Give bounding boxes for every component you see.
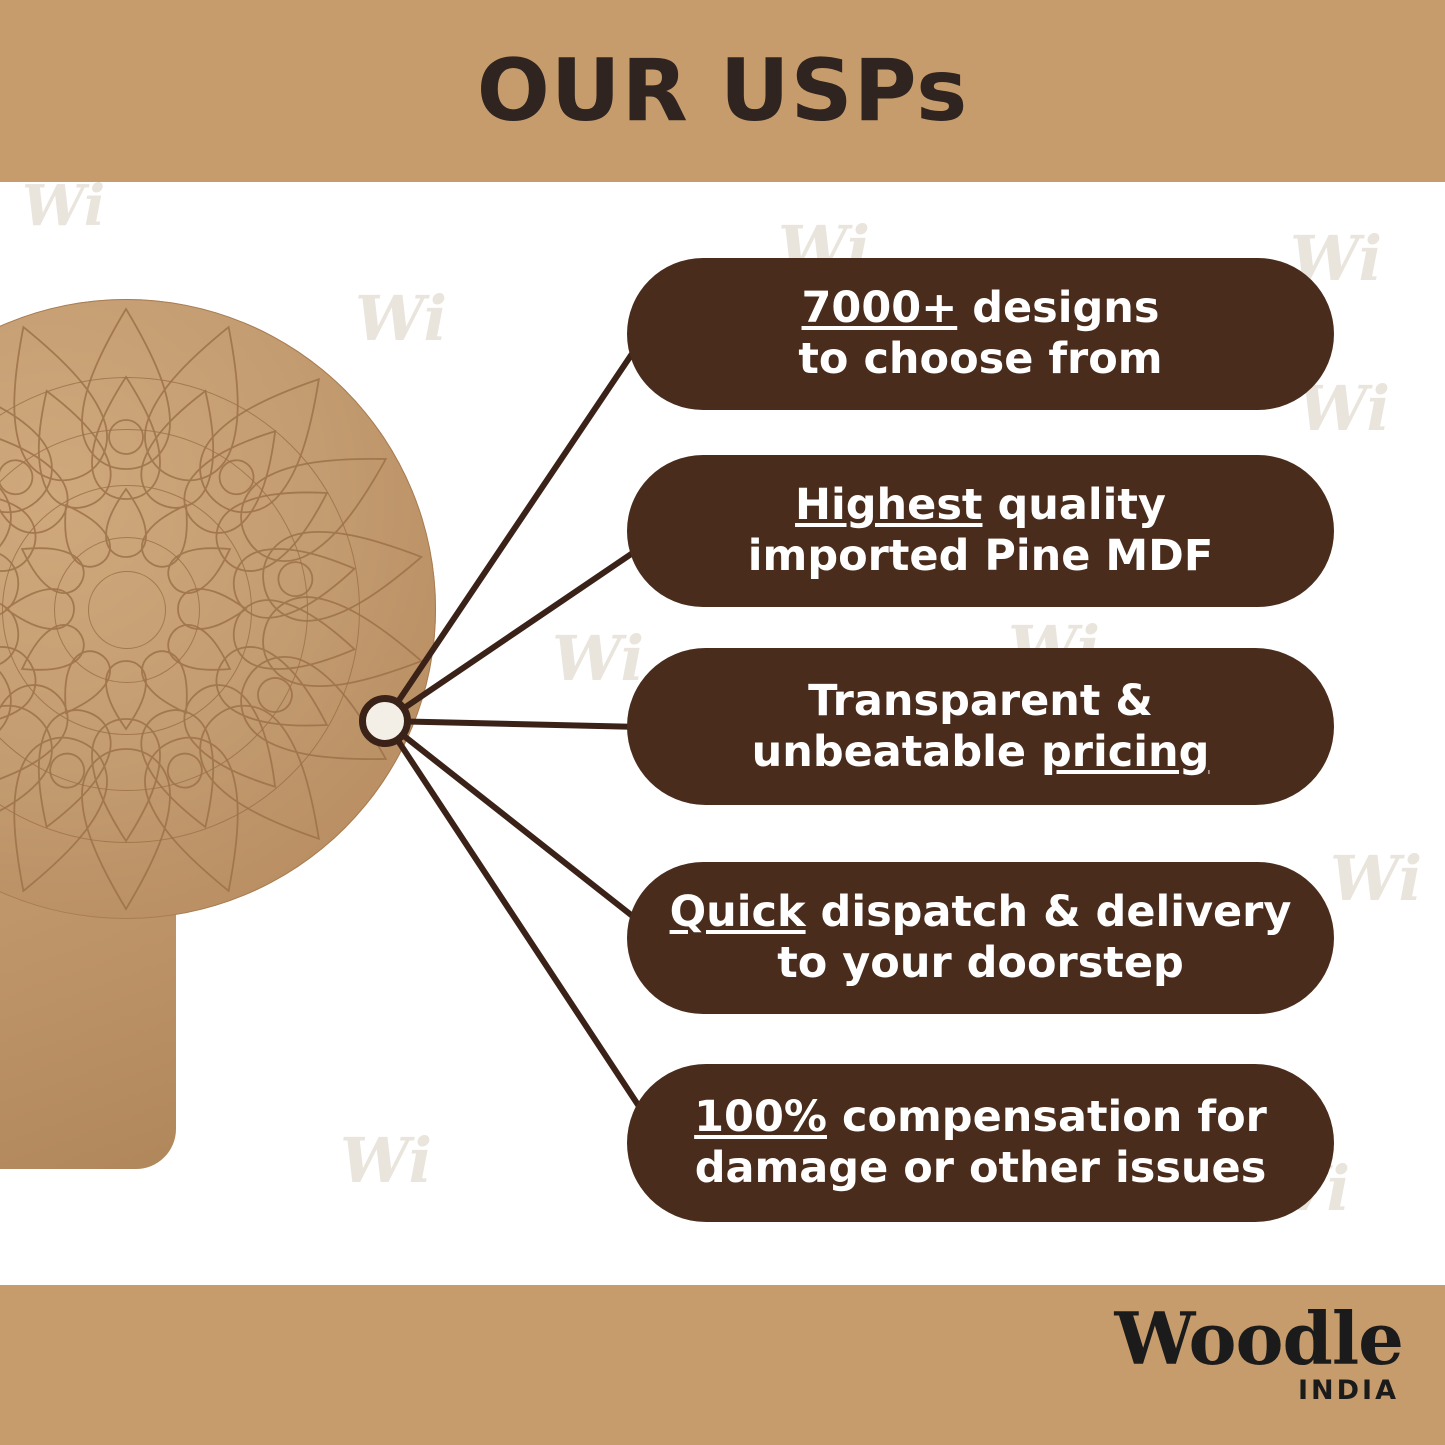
usp-pill-dispatch-line1: Quick dispatch & delivery (670, 887, 1292, 938)
page-title: OUR USPs (477, 41, 969, 141)
usp-pill-compensation-line1: 100% compensation for (694, 1092, 1267, 1143)
brand-logo-subtitle: INDIA (1114, 1377, 1399, 1404)
usp-pill-quality-highlight: Highest (795, 480, 982, 530)
usp-pill-designs-line1: 7000+ designs (802, 283, 1160, 334)
header-banner: OUR USPs (0, 0, 1445, 182)
brand-logo: Woodle INDIA (1114, 1303, 1403, 1404)
mandala-ring-center (88, 571, 166, 649)
watermark-6: Wi (552, 628, 644, 690)
usp-pill-pricing-highlight: pricing (1041, 727, 1209, 777)
usp-pill-dispatch-line2: to your doorstep (777, 938, 1184, 989)
usp-pill-compensation-line2: damage or other issues (695, 1143, 1267, 1194)
usp-pill-designs[interactable]: 7000+ designs to choose from (627, 258, 1334, 410)
footer-banner: Woodle INDIA (0, 1285, 1445, 1445)
usp-pill-dispatch[interactable]: Quick dispatch & delivery to your doorst… (627, 862, 1334, 1014)
usp-pill-quality-line1: Highest quality (795, 480, 1166, 531)
usp-pill-dispatch-highlight: Quick (670, 887, 806, 937)
usp-pill-designs-highlight: 7000+ (802, 283, 958, 333)
usp-pill-quality[interactable]: Highest quality imported Pine MDF (627, 455, 1334, 607)
usp-infographic-page: OUR USPs Wi Wi Wi Wi Wi Wi Wi Wi Wi Wi (0, 0, 1445, 1445)
usp-pill-quality-line2: imported Pine MDF (748, 531, 1213, 582)
usp-pill-compensation[interactable]: 100% compensation for damage or other is… (627, 1064, 1334, 1222)
watermark-1: Wi (22, 178, 105, 234)
usp-pill-compensation-highlight: 100% (694, 1092, 827, 1142)
usp-pill-pricing-line1: Transparent & (808, 676, 1153, 727)
brand-logo-word: Woodle (1114, 1303, 1403, 1375)
watermark-8: Wi (1330, 848, 1422, 910)
usp-pill-pricing[interactable]: Transparent & unbeatable pricing (627, 648, 1334, 805)
usp-pill-pricing-line2: unbeatable pricing (752, 727, 1210, 778)
product-hub-node (359, 695, 411, 747)
usp-pill-designs-line2: to choose from (798, 334, 1162, 385)
